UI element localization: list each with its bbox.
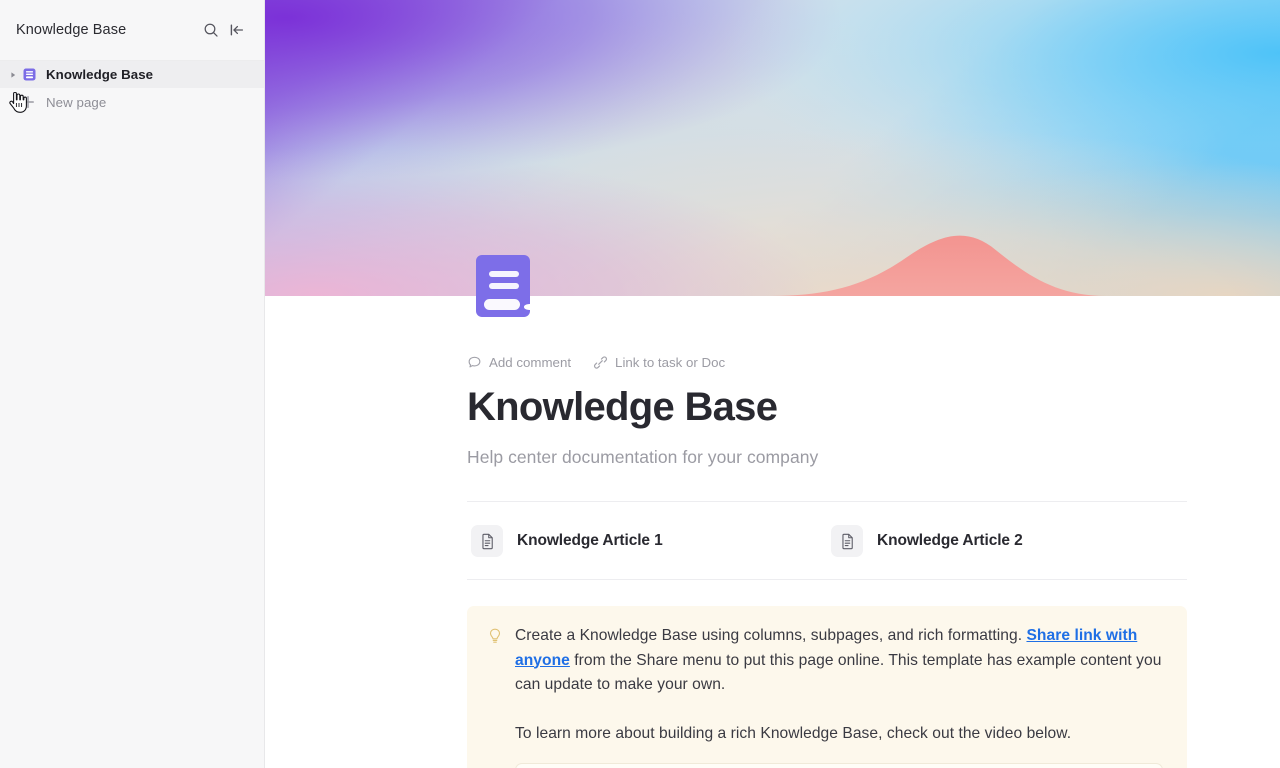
cover-gradient-svg (265, 0, 1280, 296)
callout-text-after: from the Share menu to put this page onl… (515, 652, 1161, 694)
comment-icon (467, 355, 482, 370)
book-icon (22, 67, 37, 82)
knowledge-base-app: Knowledge Base (0, 0, 1280, 768)
article-label-1: Knowledge Article 1 (517, 532, 663, 550)
sidebar: Knowledge Base (0, 0, 265, 768)
article-links-row: Knowledge Article 1 (467, 521, 1187, 561)
article-link-2[interactable]: Knowledge Article 2 (827, 521, 1029, 561)
article-column-1: Knowledge Article 1 (467, 521, 827, 561)
document-icon (831, 525, 863, 557)
collapse-sidebar-icon[interactable] (224, 17, 250, 43)
document-pane: Add comment Link to task or Doc Knowledg… (265, 0, 1280, 768)
purple-book-doc-icon[interactable] (466, 249, 540, 323)
callout-box[interactable]: Create a Knowledge Base using columns, s… (467, 606, 1187, 768)
new-page-button[interactable]: New page (0, 88, 264, 116)
link-to-task-button[interactable]: Link to task or Doc (593, 355, 725, 370)
callout-paragraph-1: Create a Knowledge Base using columns, s… (515, 624, 1163, 698)
page-subtitle[interactable]: Help center documentation for your compa… (467, 447, 1280, 468)
divider-bottom (467, 579, 1187, 580)
lightbulb-icon (487, 627, 503, 645)
search-icon[interactable] (198, 17, 224, 43)
article-link-1[interactable]: Knowledge Article 1 (467, 521, 669, 561)
article-column-2: Knowledge Article 2 (827, 521, 1187, 561)
add-comment-button[interactable]: Add comment (467, 355, 571, 370)
gradient-cover-image[interactable] (265, 0, 1280, 296)
divider-top (467, 501, 1187, 502)
link-icon (593, 355, 608, 370)
callout-body: Create a Knowledge Base using columns, s… (515, 624, 1167, 768)
document-content: Add comment Link to task or Doc Knowledg… (265, 352, 1280, 768)
video-embed-box[interactable] (515, 763, 1163, 768)
sidebar-header: Knowledge Base (0, 0, 264, 61)
callout-paragraph-2: To learn more about building a rich Know… (515, 722, 1163, 747)
sidebar-item-knowledge-base[interactable]: Knowledge Base (0, 61, 264, 88)
document-meta-row: Add comment Link to task or Doc (467, 352, 1280, 372)
add-comment-label: Add comment (489, 355, 571, 370)
callout-text-before: Create a Knowledge Base using columns, s… (515, 627, 1026, 644)
article-label-2: Knowledge Article 2 (877, 532, 1023, 550)
sidebar-item-label: Knowledge Base (46, 67, 153, 82)
sidebar-title: Knowledge Base (16, 22, 198, 38)
page-title[interactable]: Knowledge Base (467, 383, 1280, 431)
plus-icon (20, 94, 36, 110)
link-to-task-label: Link to task or Doc (615, 355, 725, 370)
document-icon (471, 525, 503, 557)
new-page-label: New page (46, 95, 106, 110)
chevron-right-icon[interactable] (6, 68, 20, 82)
